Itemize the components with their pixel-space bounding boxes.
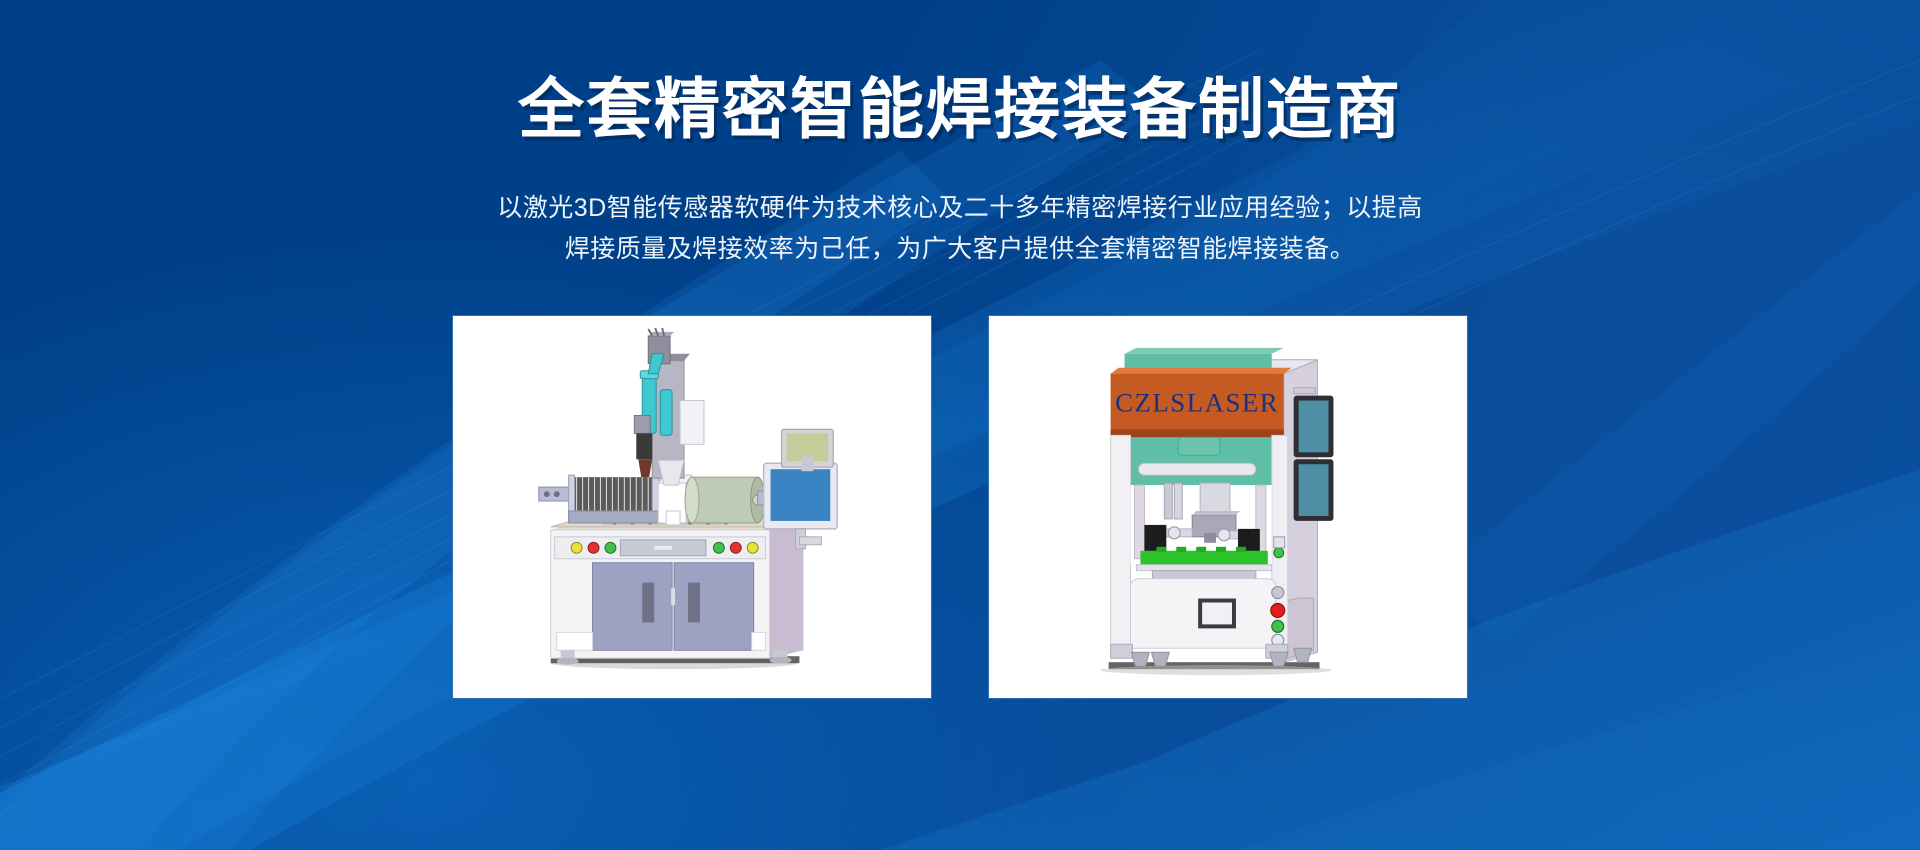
monitor-top-screen bbox=[1299, 401, 1329, 453]
banner-subtitle: 以激光3D智能传感器软硬件为技术核心及二十多年精密焊接行业应用经验；以提高 焊接… bbox=[400, 188, 1520, 269]
chamber-status-lamp bbox=[1274, 548, 1284, 558]
page-title: 全套精密智能焊接装备制造商 bbox=[518, 76, 1402, 142]
button-green-1 bbox=[1272, 620, 1284, 632]
indicator-lamp-yellow-2 bbox=[747, 542, 758, 553]
z-axis-rail-b bbox=[1174, 483, 1182, 519]
product-image-card-right[interactable]: 全封闭激光焊接工作站 CZLSLASER bbox=[988, 315, 1468, 699]
product-gallery: 精密激光焊接机 bbox=[452, 315, 1468, 699]
door-handle bbox=[671, 588, 675, 606]
indicator-lamp-yellow bbox=[571, 542, 582, 553]
hood-top-green bbox=[1125, 348, 1284, 354]
z-axis-rail-a bbox=[1164, 483, 1172, 519]
precision-laser-welding-machine-illustration bbox=[453, 316, 931, 698]
enclosure-handle-bar bbox=[1138, 463, 1255, 475]
enclosure-green-notch bbox=[1178, 437, 1220, 455]
chamber-pillar-left bbox=[1134, 485, 1144, 559]
hmi-touch-panel bbox=[1200, 601, 1234, 627]
indicator-lamp-red-2 bbox=[730, 542, 741, 553]
product-image-card-left[interactable]: 精密激光焊接机 bbox=[452, 315, 932, 699]
coil-base-rail bbox=[569, 511, 661, 523]
chamber-switch bbox=[1274, 537, 1285, 548]
station-foot-plate-left bbox=[1111, 644, 1133, 658]
subtitle-line-2: 焊接质量及焊接效率为己任，为广大客户提供全套精密智能焊接装备。 bbox=[400, 229, 1520, 270]
laser-nozzle-block bbox=[636, 433, 652, 459]
brand-text: CZLSLASER bbox=[1115, 388, 1279, 418]
brand-plate-top-bevel bbox=[1111, 368, 1292, 374]
laser-head-tube-2 bbox=[660, 390, 672, 436]
button-grey-top bbox=[1272, 587, 1284, 599]
secondary-screen-stand bbox=[801, 455, 813, 471]
sensor-lens-left bbox=[1168, 527, 1180, 539]
main-monitor-screen bbox=[771, 469, 831, 521]
worktable-green bbox=[1140, 551, 1267, 565]
brand-plate-shadow bbox=[1111, 429, 1284, 437]
button-emergency-red bbox=[1271, 603, 1285, 617]
workpiece-cylinder bbox=[692, 477, 758, 523]
enclosed-laser-welding-station-illustration: CZLSLASER bbox=[989, 316, 1467, 698]
monitor-bracket bbox=[1294, 388, 1316, 394]
frame-column-left bbox=[1111, 435, 1131, 644]
indicator-lamp-green-2 bbox=[713, 542, 724, 553]
monitor-mount-plate bbox=[799, 537, 821, 545]
indicator-lamp-red bbox=[588, 542, 599, 553]
banner-content: 全套精密智能焊接装备制造商 以激光3D智能传感器软硬件为技术核心及二十多年精密焊… bbox=[0, 0, 1920, 850]
monitor-bottom-screen bbox=[1299, 464, 1329, 516]
subtitle-line-1: 以激光3D智能传感器软硬件为技术核心及二十多年精密焊接行业应用经验；以提高 bbox=[400, 188, 1520, 229]
gantry-bracket bbox=[680, 401, 704, 445]
worktable-base bbox=[1136, 565, 1271, 571]
cabinet-door-left bbox=[593, 563, 673, 651]
cabinet-door-right bbox=[674, 563, 754, 651]
laser-head-nozzle bbox=[1204, 533, 1216, 543]
laser-head-mount bbox=[634, 415, 650, 433]
indicator-lamp-green bbox=[605, 542, 616, 553]
sensor-lens-right bbox=[1218, 529, 1230, 541]
